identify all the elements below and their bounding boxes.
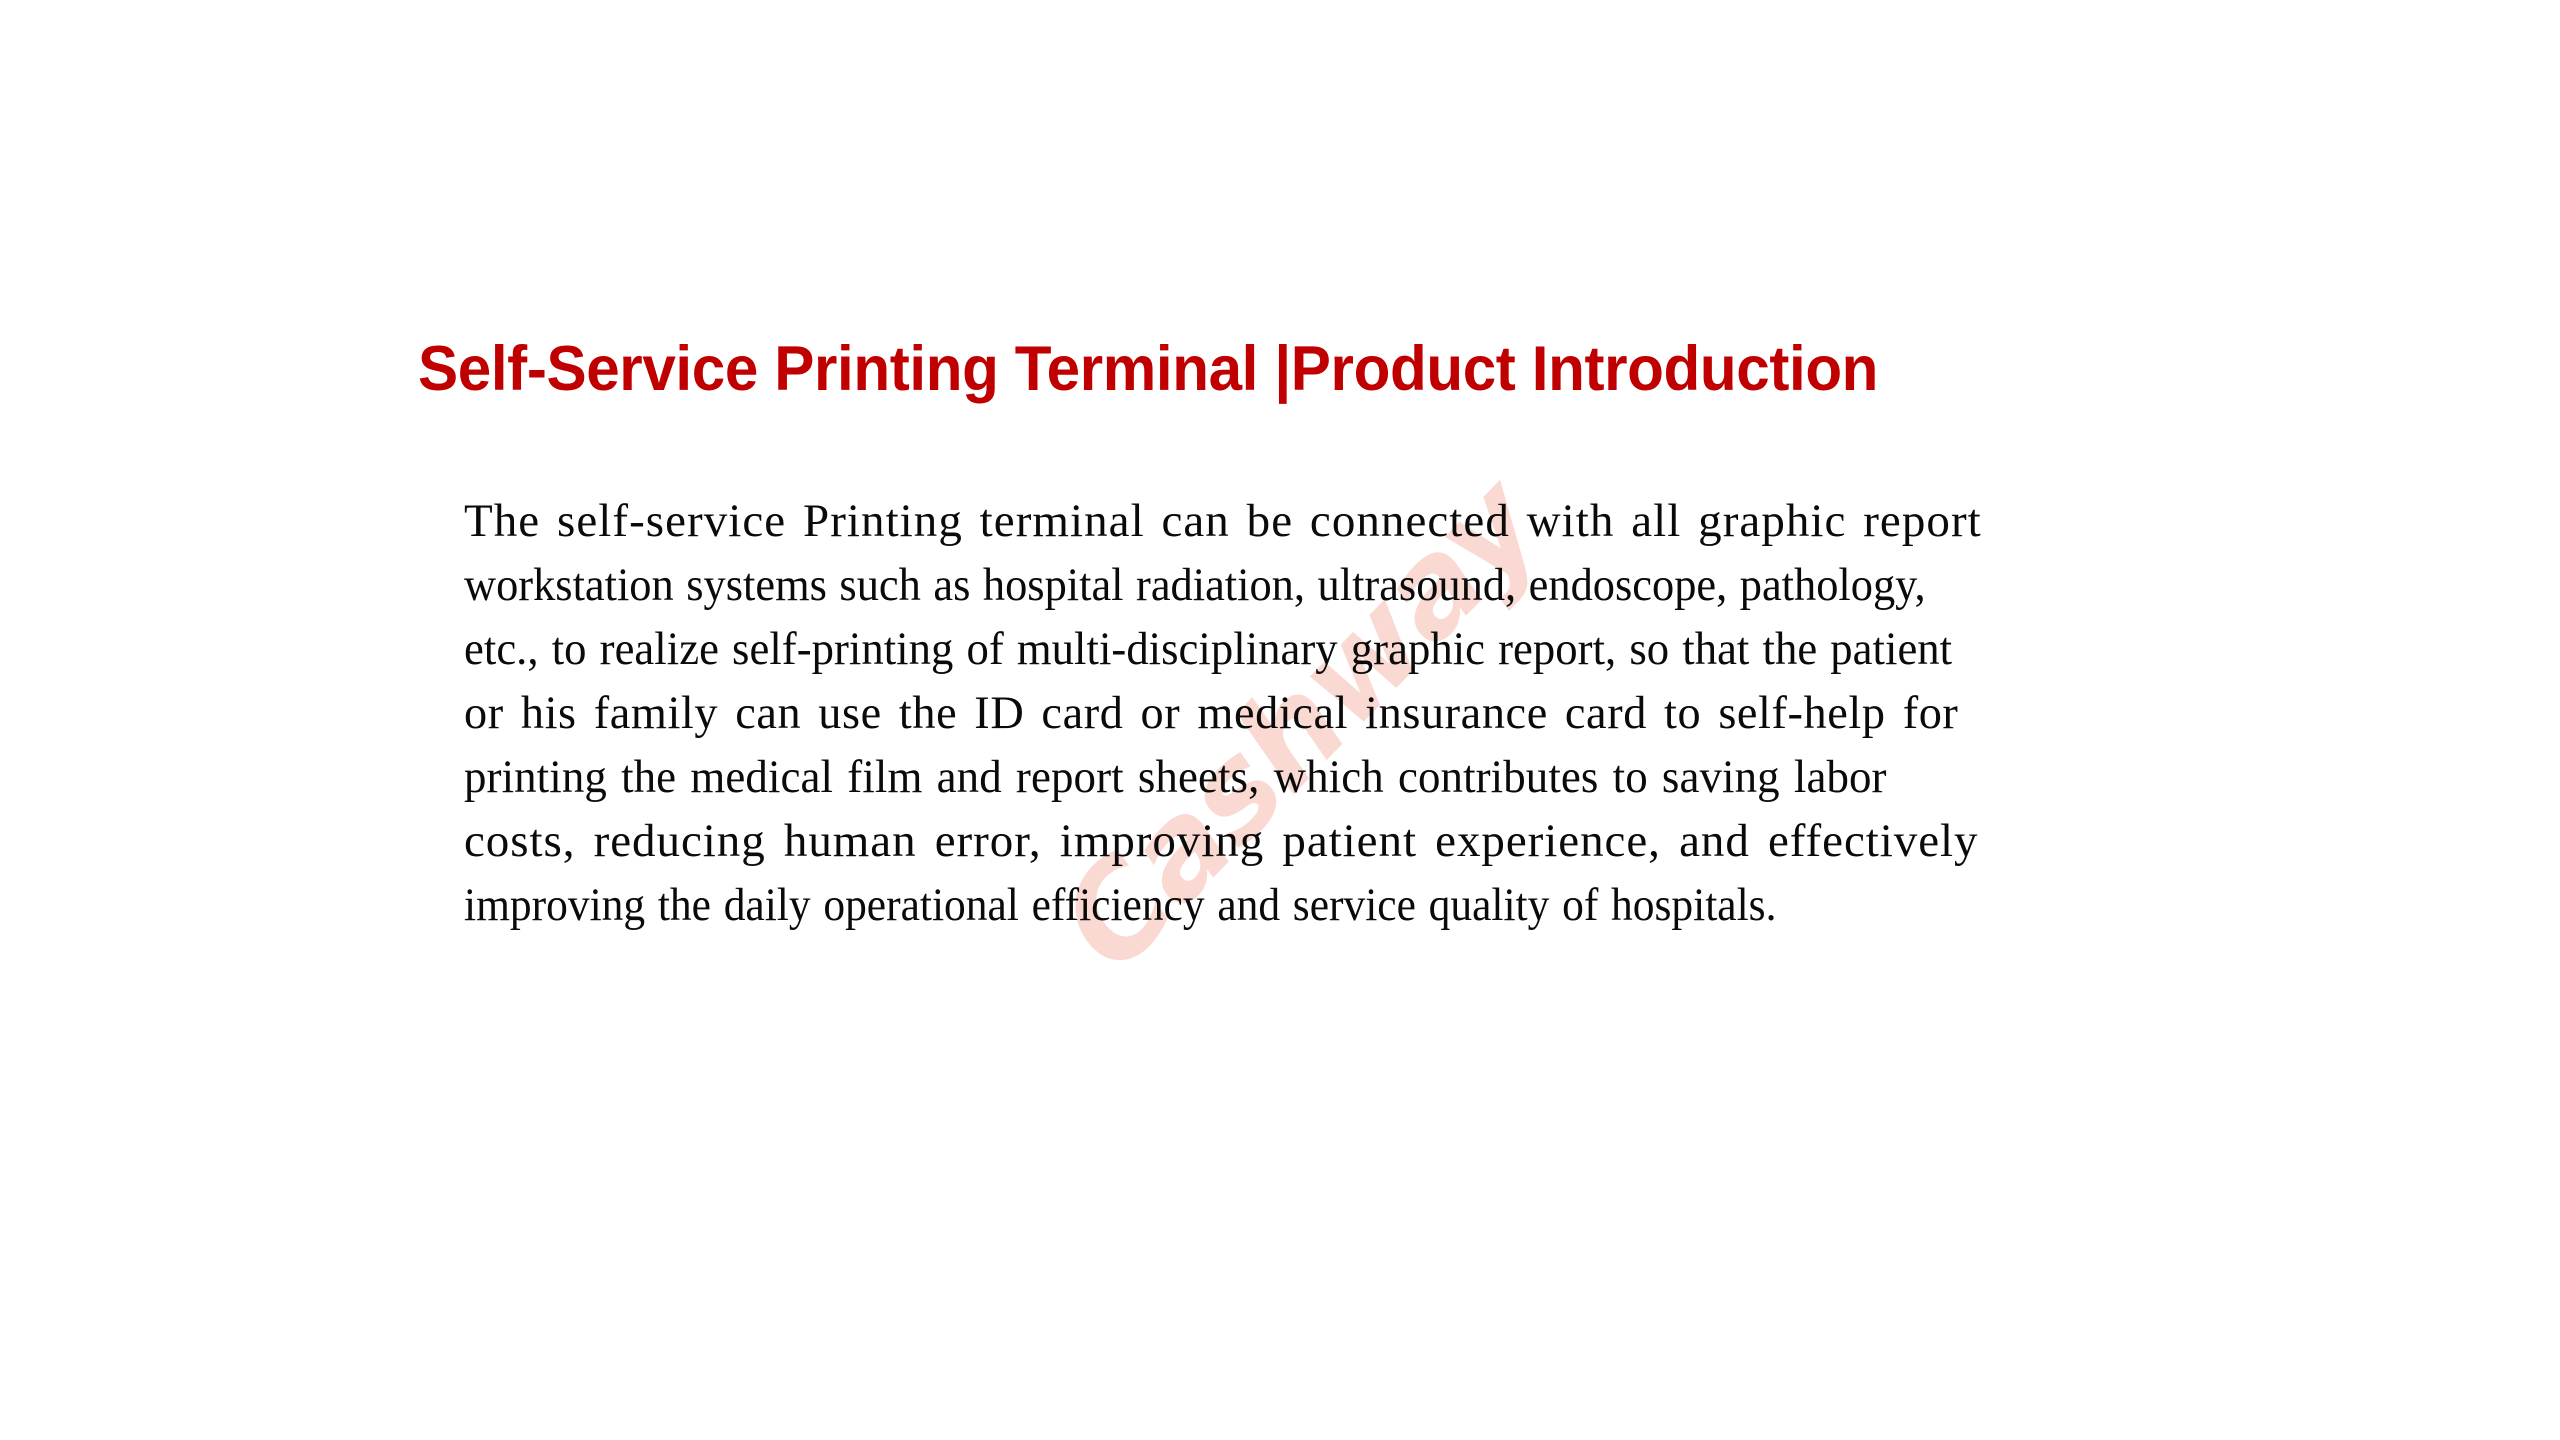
body-text-line: etc., to realize self-printing of multi-… — [464, 617, 2136, 681]
body-text-line: or his family can use the ID card or med… — [464, 681, 2198, 745]
slide-canvas: Self-Service Printing Terminal |Product … — [0, 0, 2560, 1440]
body-text-line: printing the medical film and report she… — [464, 745, 2145, 809]
body-text-line: improving the daily operational efficien… — [464, 873, 2092, 937]
body-text-line: The self-service Printing terminal can b… — [464, 489, 2224, 553]
page-title: Self-Service Printing Terminal |Product … — [418, 336, 2137, 402]
body-text-line: costs, reducing human error, improving p… — [464, 809, 2224, 873]
body-text-line: workstation systems such as hospital rad… — [464, 553, 2127, 617]
body-paragraph: The self-service Printing terminal can b… — [464, 489, 2224, 937]
